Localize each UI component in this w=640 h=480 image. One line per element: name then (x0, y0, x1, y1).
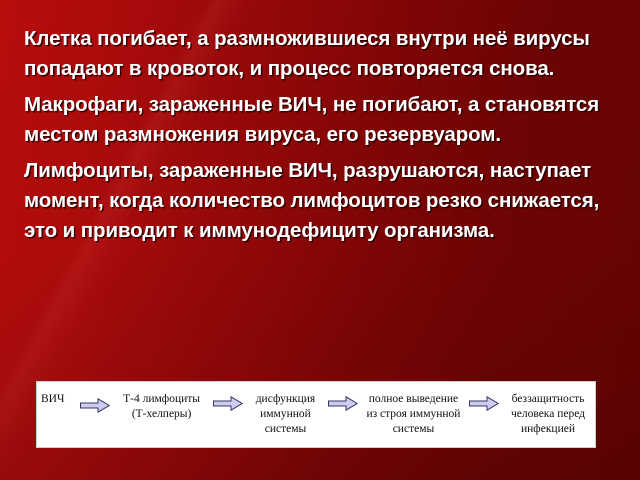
chain-step-hiv: ВИЧ (37, 382, 78, 407)
body-text-block: Клетка погибает, а размножившиеся внутри… (24, 24, 624, 246)
paragraph-3: Лимфоциты, зараженные ВИЧ, разрушаются, … (24, 156, 624, 246)
chain-step-defenselessness: беззащитность человека перед инфекцией (501, 382, 595, 437)
chain-step-t4-lymphocytes: Т-4 лимфоциты (Т-хелперы) (112, 382, 211, 422)
paragraph-1: Клетка погибает, а размножившиеся внутри… (24, 24, 624, 84)
paragraph-2: Макрофаги, зараженные ВИЧ, не погибают, … (24, 90, 624, 150)
chain-step-immune-failure: полное выведение из строя иммунной систе… (360, 382, 467, 437)
right-arrow-icon (326, 396, 360, 411)
right-arrow-icon (467, 396, 501, 411)
slide-canvas: Клетка погибает, а размножившиеся внутри… (0, 0, 640, 480)
chain-diagram: ВИЧ Т-4 лимфоциты (Т-хелперы) дисфункция… (36, 381, 596, 448)
right-arrow-icon (78, 398, 112, 413)
right-arrow-icon (211, 396, 245, 411)
chain-step-immune-dysfunction: дисфункция иммунной системы (245, 382, 326, 437)
